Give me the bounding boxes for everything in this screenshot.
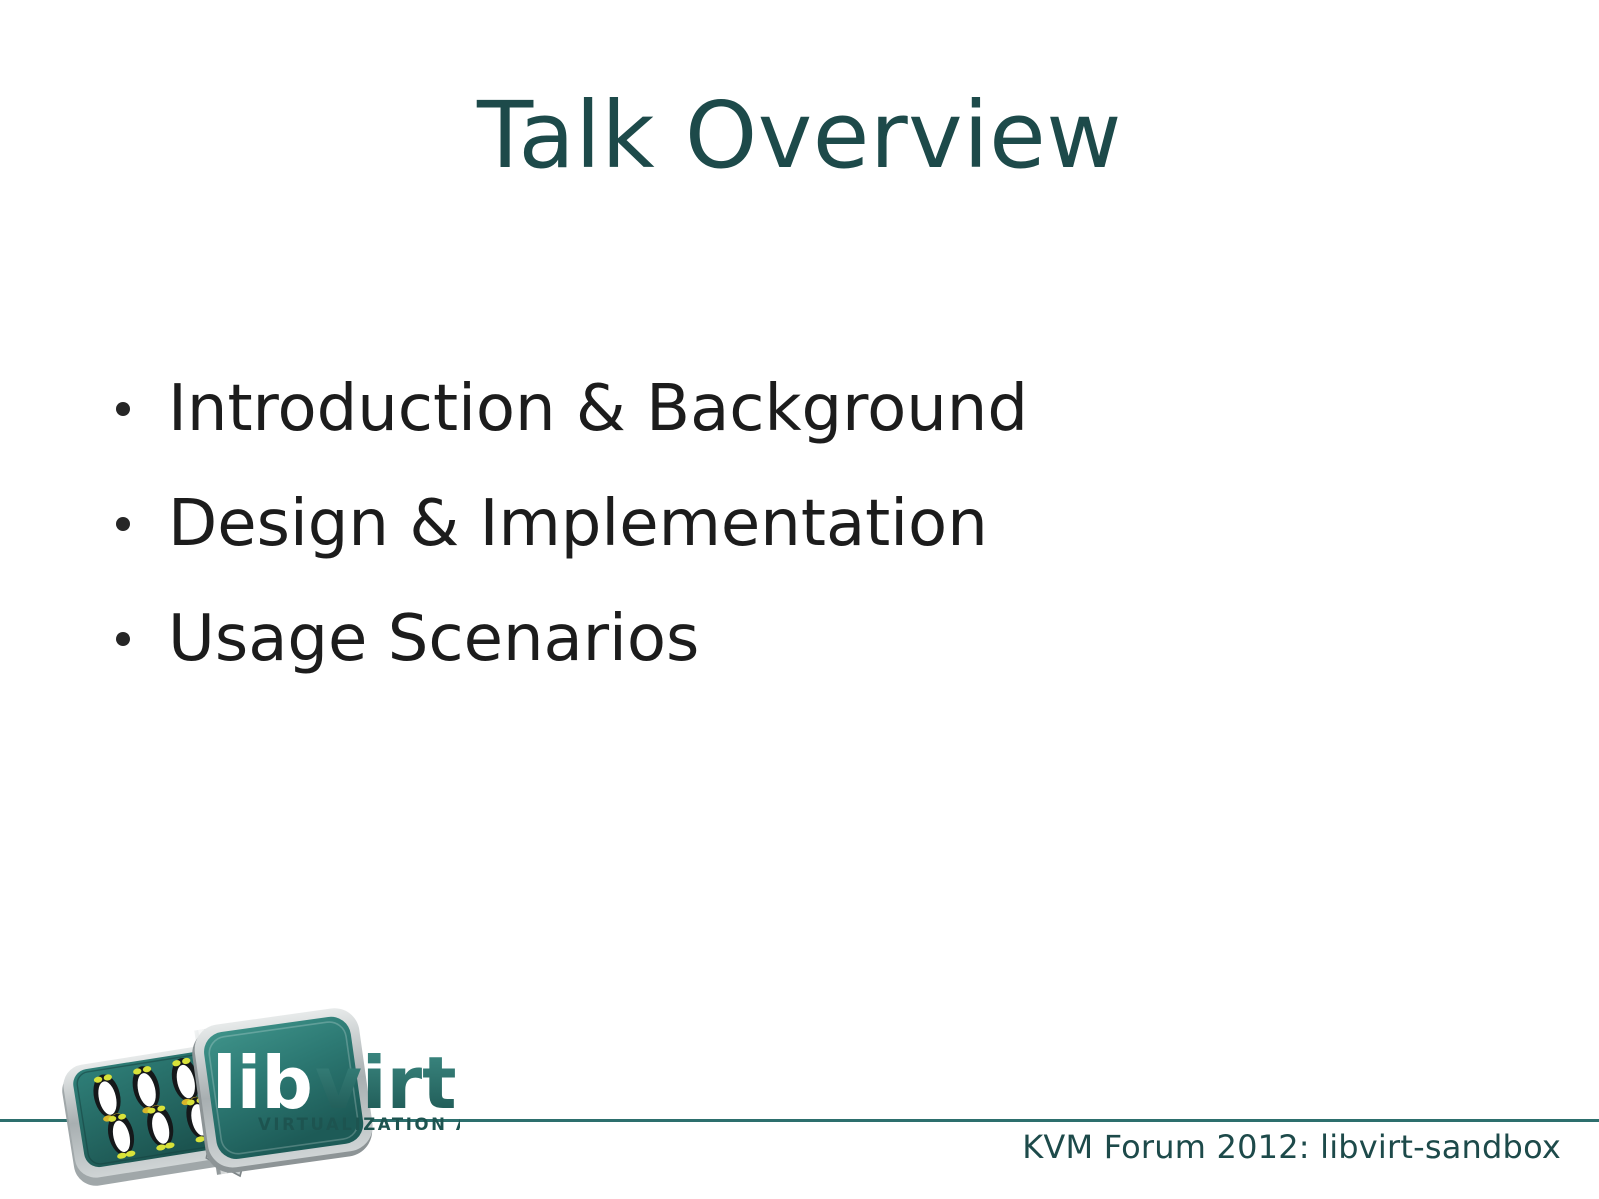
list-item: Design & Implementation <box>108 485 1508 563</box>
list-item: Introduction & Background <box>108 370 1508 448</box>
bullet-dot-icon <box>116 517 130 531</box>
list-item: Usage Scenarios <box>108 600 1508 678</box>
libvirt-logo: lib virt VIRTUALIZATION API <box>60 1000 460 1199</box>
list-item-label: Introduction & Background <box>168 372 1028 446</box>
libvirt-logo-icon: lib virt VIRTUALIZATION API <box>60 1000 460 1199</box>
slide-canvas: Talk Overview Introduction & Background … <box>0 0 1599 1199</box>
footer-text: KVM Forum 2012: libvirt-sandbox <box>1022 1128 1561 1166</box>
list-item-label: Design & Implementation <box>168 487 988 561</box>
bullet-dot-icon <box>116 632 130 646</box>
list-item-label: Usage Scenarios <box>168 602 699 676</box>
logo-tagline: VIRTUALIZATION API <box>258 1115 460 1134</box>
page-title: Talk Overview <box>0 88 1599 185</box>
bullet-dot-icon <box>116 402 130 416</box>
logo-wordmark-virt: virt <box>315 1041 457 1125</box>
bullet-list: Introduction & Background Design & Imple… <box>108 370 1508 715</box>
logo-wordmark-lib: lib <box>212 1041 313 1125</box>
